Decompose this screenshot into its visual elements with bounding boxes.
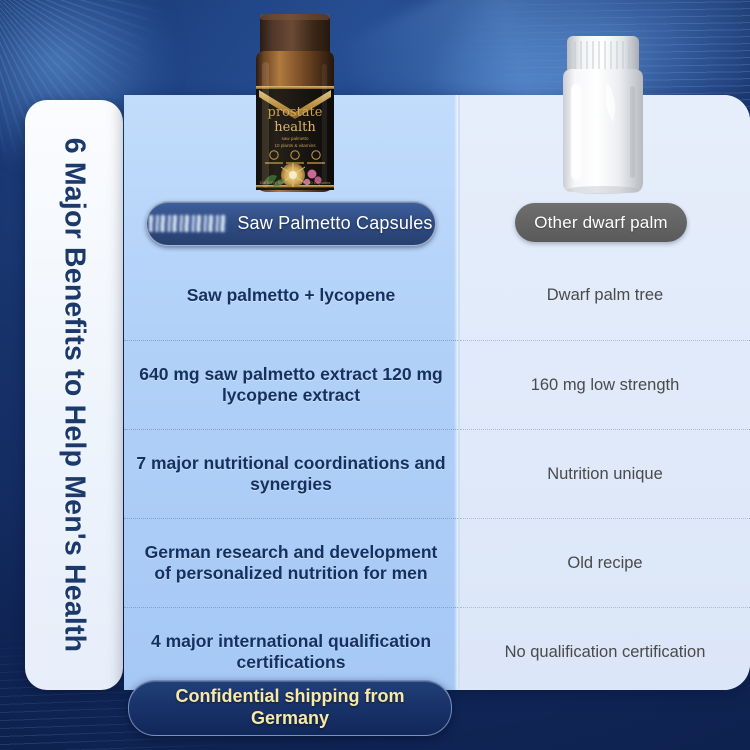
infographic-canvas: 6 Major Benefits to Help Men's Health Sa… [0,0,750,750]
list-item: 4 major international qualification cert… [124,607,458,690]
shipping-banner[interactable]: Confidential shipping from Germany [128,680,452,736]
list-item: German research and development of perso… [124,518,458,607]
svg-text:saw palmetto: saw palmetto [281,136,309,141]
list-item: No qualification certification [460,607,750,690]
product-feature-list: Saw palmetto + lycopene 640 mg saw palme… [124,251,458,690]
product-header-pill[interactable]: Saw Palmetto Capsules [146,201,436,246]
brand-logo-icon [149,215,227,232]
svg-text:DIETARY SUPPLEMENT · 60 Capsul: DIETARY SUPPLEMENT · 60 Capsules [260,180,331,185]
list-item: 640 mg saw palmetto extract 120 mg lycop… [124,340,458,429]
competitor-header-pill[interactable]: Other dwarf palm [515,203,687,242]
svg-text:health: health [274,120,316,135]
svg-text:prostate: prostate [268,105,323,120]
list-item: Nutrition unique [460,429,750,518]
list-item: 7 major nutritional coordinations and sy… [124,429,458,518]
list-item: Old recipe [460,518,750,607]
competitor-feature-list: Dwarf palm tree 160 mg low strength Nutr… [460,251,750,690]
comparison-panel: Saw palmetto + lycopene 640 mg saw palme… [124,95,750,690]
list-item: Dwarf palm tree [460,251,750,340]
product-header-label: Saw Palmetto Capsules [237,213,432,234]
competitor-bottle-image [551,18,655,200]
list-item: 160 mg low strength [460,340,750,429]
competitor-header-label: Other dwarf palm [534,213,668,233]
sidebar-title-panel: 6 Major Benefits to Help Men's Health [25,100,123,690]
product-bottle-image: prostate health saw palmetto 10 plants &… [229,0,361,198]
list-item: Saw palmetto + lycopene [124,251,458,340]
shipping-banner-label: Confidential shipping from Germany [129,686,451,729]
svg-text:10 plants & vitamins: 10 plants & vitamins [274,143,316,148]
page-title: 6 Major Benefits to Help Men's Health [58,138,91,653]
